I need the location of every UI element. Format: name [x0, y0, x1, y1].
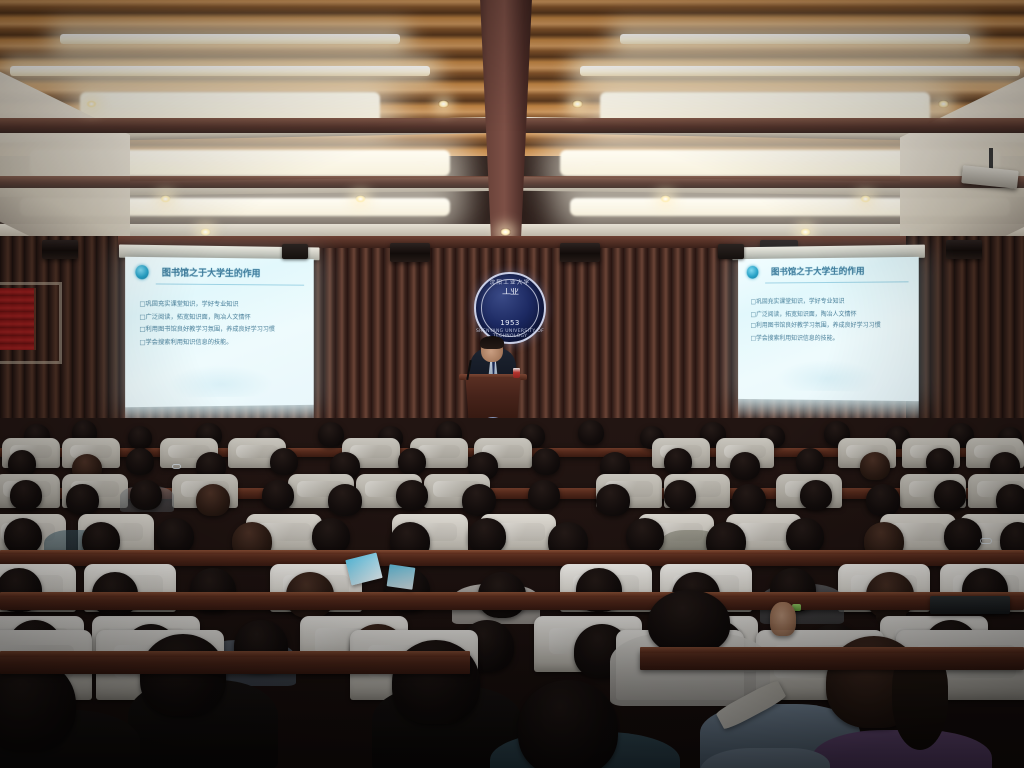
audience-head — [532, 448, 560, 475]
ceiling — [0, 0, 1024, 248]
audience-head — [270, 448, 298, 475]
audience-area — [0, 418, 1024, 768]
wall-speaker — [946, 240, 982, 259]
audience-head — [468, 518, 506, 554]
slide-bullet-item: □利用图书馆良好教学习氛围，养成良好学习习惯 — [751, 321, 912, 332]
emblem-chinese-name: 沈阳工业大学 — [474, 278, 546, 286]
emblem-year: 1953 — [474, 319, 546, 327]
slide-title-rule — [156, 283, 304, 285]
audience-hand — [770, 602, 796, 636]
right-screen-assembly: 图书馆之于大学生的作用 □巩固充实课堂知识，学好专业知识 □广泛阅读，拓宽知识面… — [738, 257, 919, 401]
slide-bullet-item: □学会搜索利用知识信息的技能。 — [751, 331, 912, 345]
audience-head — [800, 480, 832, 510]
slide-bullet-item: □巩固充实课堂知识，学好专业知识 — [751, 296, 912, 309]
slide-bullet-item: □学会搜索利用知识信息的技能。 — [139, 335, 306, 350]
audience-head — [926, 448, 954, 475]
emblem-glyph: 工业 — [491, 288, 529, 320]
desk-edge — [0, 651, 470, 657]
downlight-icon — [660, 195, 671, 203]
downlight-icon — [438, 100, 449, 108]
left-screen-assembly: 图书馆之于大学生的作用 □巩固充实课堂知识，学好专业知识 □广泛阅读，拓宽知识面… — [125, 257, 314, 407]
audience-head — [664, 480, 696, 510]
slide-bullet-item: □广泛阅读，拓宽知识面，陶冶人文情怀 — [751, 308, 912, 321]
audience-head — [10, 480, 42, 510]
audience-head — [312, 518, 350, 554]
audience-head — [934, 480, 966, 510]
audience-head — [8, 450, 36, 477]
slide-bullet-list: □巩固充实课堂知识，学好专业知识 □广泛阅读，拓宽知识面，陶冶人文情怀 □利用图… — [751, 296, 912, 346]
audience-head — [398, 448, 426, 475]
downlight-icon — [572, 100, 583, 108]
audience-head — [462, 484, 496, 516]
audience-head — [944, 518, 982, 554]
audience-head — [626, 518, 664, 554]
downlight-icon — [200, 228, 211, 236]
downlight-icon — [860, 195, 871, 203]
laptop-icon[interactable] — [930, 596, 1010, 614]
audience-head — [126, 448, 154, 475]
glasses-icon — [980, 538, 992, 544]
right-projection-screen[interactable]: 图书馆之于大学生的作用 □巩固充实课堂知识，学好专业知识 □广泛阅读，拓宽知识面… — [738, 257, 919, 401]
audience-head-front — [518, 680, 618, 768]
ceiling-light-strip — [60, 34, 400, 44]
screen-mounted-speaker-right — [718, 244, 744, 259]
handout-booklet[interactable] — [387, 564, 416, 589]
audience-head — [648, 590, 730, 654]
lecture-hall-scene: 沈阳工业大学 工业 1953 SHENYANG UNIVERSITY OF TE… — [0, 0, 1024, 768]
slide-bullet-item: □利用图书馆良好教学习氛围，养成良好学习习惯 — [139, 324, 306, 335]
slide-title-rule — [765, 281, 908, 283]
wall-speaker — [42, 240, 78, 259]
downlight-icon — [86, 100, 97, 108]
audience-head — [796, 448, 824, 475]
audience-head — [328, 484, 362, 516]
window-frame-left — [0, 282, 62, 364]
audience-head — [528, 480, 560, 510]
audience-head — [866, 484, 900, 516]
desk-row-front — [0, 654, 470, 674]
slide-bullet-item: □广泛阅读，拓宽知识面，陶冶人文情怀 — [139, 311, 306, 324]
downlight-icon — [938, 100, 949, 108]
downlight-icon — [355, 195, 366, 203]
audience-head — [128, 426, 152, 449]
desk-edge — [0, 550, 1024, 554]
audience-head — [318, 422, 344, 447]
desk-row-front — [640, 650, 1024, 670]
slide-title: 图书馆之于大学生的作用 — [162, 265, 261, 279]
audience-head — [262, 480, 294, 510]
audience-head — [664, 448, 692, 475]
wall-speaker — [390, 243, 430, 262]
audience-head — [996, 484, 1024, 515]
slide-watermark — [777, 360, 878, 392]
audience-head — [578, 420, 604, 445]
slide-logo-icon — [747, 266, 759, 279]
slide-bullet-item: □巩固充实课堂知识，学好专业知识 — [139, 298, 306, 312]
slide-bullet-list: □巩固充实课堂知识，学好专业知识 □广泛阅读，拓宽知识面，陶冶人文情怀 □利用图… — [139, 298, 306, 351]
audience-head — [66, 484, 99, 515]
audience-head-front — [140, 634, 226, 716]
audience-head — [130, 480, 162, 510]
audience-head — [156, 518, 194, 554]
audience-head — [732, 484, 766, 516]
slide-watermark — [168, 364, 274, 397]
audience-head — [4, 518, 42, 554]
presenter-hair — [480, 336, 504, 349]
ceiling-light-strip — [10, 66, 430, 76]
screen-mounted-speaker-left — [282, 244, 308, 259]
ceiling-light-strip — [620, 34, 970, 44]
audience-head — [396, 480, 428, 510]
desk-edge — [640, 647, 1024, 653]
downlight-icon — [500, 228, 511, 236]
audience-head — [730, 452, 760, 480]
ceiling-light-strip — [580, 66, 1020, 76]
projector-mount-arm — [989, 148, 993, 170]
audience-head — [596, 484, 630, 516]
audience-head — [860, 452, 890, 480]
desk-edge — [0, 592, 1024, 597]
wall-side-right — [906, 236, 1024, 448]
university-emblem: 沈阳工业大学 工业 1953 SHENYANG UNIVERSITY OF TE… — [474, 272, 546, 344]
slide-title: 图书馆之于大学生的作用 — [771, 265, 865, 278]
wall-speaker — [560, 243, 600, 262]
cup-icon — [513, 368, 520, 378]
audience-head — [196, 484, 230, 516]
downlight-icon — [160, 195, 171, 203]
audience-head — [786, 518, 824, 554]
glasses-icon — [172, 464, 181, 469]
downlight-icon — [800, 228, 811, 236]
left-projection-screen[interactable]: 图书馆之于大学生的作用 □巩固充实课堂知识，学好专业知识 □广泛阅读，拓宽知识面… — [125, 257, 314, 407]
slide-logo-icon — [135, 265, 148, 279]
